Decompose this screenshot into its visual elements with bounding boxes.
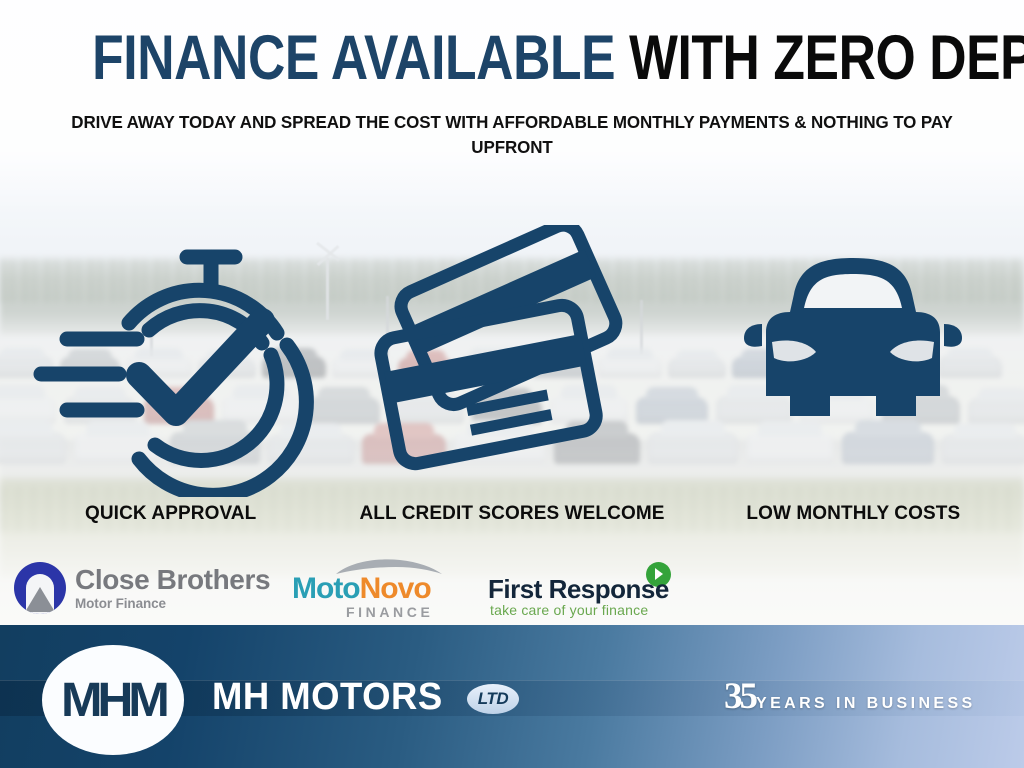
ltd-badge: LTD [467,684,519,714]
finance-promo-banner: FINANCE AVAILABLE WITH ZERO DEPOSIT DRIV… [0,0,1024,768]
feature-label: ALL CREDIT SCORES WELCOME [359,503,664,525]
feature-label: QUICK APPROVAL [85,503,256,525]
subheading: DRIVE AWAY TODAY AND SPREAD THE COST WIT… [41,110,984,160]
years-in-business: 35 YEARS IN BUSINESS [724,682,976,713]
lender-name: First Response [488,574,669,605]
lender-logo-close-brothers: Close Brothers Motor Finance [14,562,270,614]
feature-label: LOW MONTHLY COSTS [746,503,960,525]
lender-tagline: take care of your finance [490,602,648,618]
brand-wordmark: MH MOTORS [212,676,443,719]
lender-logo-motonovo: MotoNovo FINANCE [292,560,452,618]
headline-blue-text: FINANCE AVAILABLE [92,23,615,93]
stopwatch-check-icon [19,225,319,497]
lender-logo-first-response: First Response take care of your finance [488,562,688,618]
feature-low-monthly-costs: LOW MONTHLY COSTS [683,195,1024,525]
years-number: 35 [724,682,755,712]
credit-cards-icon [367,225,657,497]
car-front-icon [728,225,978,497]
feature-list: QUICK APPROVAL [0,195,1024,525]
lender-logos-row: Close Brothers Motor Finance MotoNovo FI… [0,552,1024,624]
lender-subtitle: FINANCE [346,604,433,620]
lender-name-part-2: Novo [360,572,431,605]
mh-motors-logo: MHM [42,645,184,755]
arch-mountain-icon [14,562,66,614]
logo-monogram: MHM [61,673,165,728]
years-label: YEARS IN BUSINESS [756,695,976,713]
feature-quick-approval: QUICK APPROVAL [0,195,341,525]
feature-all-credit-scores: ALL CREDIT SCORES WELCOME [341,195,682,525]
lender-name: Close Brothers [75,566,270,594]
ltd-badge-label: LTD [478,689,509,709]
headline: FINANCE AVAILABLE WITH ZERO DEPOSIT [92,26,932,90]
lender-subtitle: Motor Finance [75,597,270,611]
headline-black-text: WITH ZERO DEPOSIT [629,23,1024,93]
lender-name-part-1: Moto [292,572,360,605]
